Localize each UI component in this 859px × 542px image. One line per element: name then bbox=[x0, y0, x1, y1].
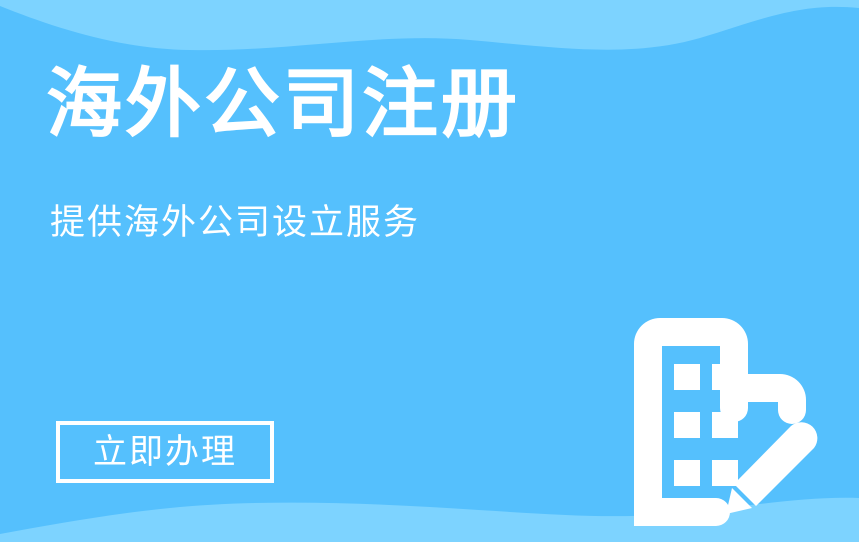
banner-content: 海外公司注册 提供海外公司设立服务 立即办理 bbox=[0, 0, 859, 542]
page-subtitle: 提供海外公司设立服务 bbox=[50, 206, 420, 241]
apply-now-button[interactable]: 立即办理 bbox=[56, 421, 274, 483]
building-edit-icon bbox=[604, 300, 824, 526]
overseas-company-registration-banner: 海外公司注册 提供海外公司设立服务 立即办理 bbox=[0, 0, 859, 542]
page-title: 海外公司注册 bbox=[46, 66, 520, 142]
apply-now-button-label: 立即办理 bbox=[93, 435, 237, 469]
